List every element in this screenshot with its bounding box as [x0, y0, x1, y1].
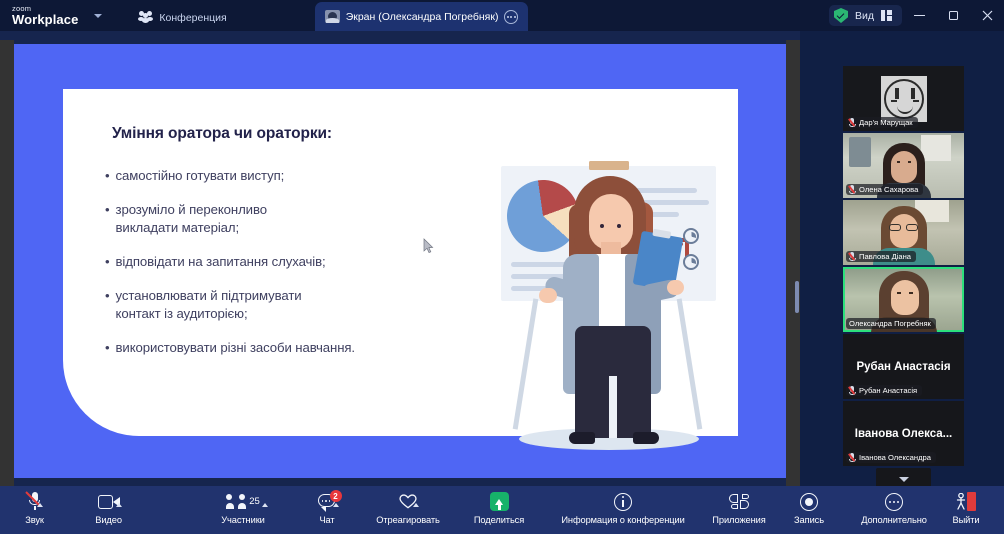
bullet-marker: •: [105, 339, 110, 357]
video-label: Видео: [95, 515, 122, 525]
participant-display-name: Рубан Анастасія: [856, 361, 950, 373]
participant-name: Павлова Діана: [859, 252, 911, 261]
tab-more-options-icon[interactable]: [504, 10, 518, 24]
more-options-button[interactable]: Дополнительно: [848, 486, 940, 534]
chevron-down-icon: [899, 477, 909, 482]
cartoon-face-avatar-icon: [881, 76, 927, 122]
video-tile[interactable]: Олена Сахарова: [843, 133, 964, 198]
share-scrollbar-handle[interactable]: [795, 281, 799, 313]
share-right-strip: [786, 40, 800, 486]
camera-icon: [98, 491, 120, 512]
info-icon: [614, 491, 632, 512]
apps-button[interactable]: Приложения: [706, 486, 772, 534]
mic-muted-icon: [849, 185, 856, 194]
screen-share-icon: [325, 10, 340, 23]
heart-reaction-icon: [399, 491, 417, 512]
bullet-marker: •: [105, 167, 110, 185]
record-button[interactable]: Запись: [782, 486, 836, 534]
minimize-button[interactable]: [902, 0, 936, 31]
easel-leg-left: [513, 298, 539, 429]
meeting-toolbar: Звук Видео 25 Участники 2: [0, 486, 1004, 534]
reactions-label: Отреагировать: [376, 515, 440, 525]
apps-label: Приложения: [712, 515, 765, 525]
share-left-strip: [0, 40, 14, 486]
audio-only-tile[interactable]: Іванова Олекса... Іванова Олександра: [843, 401, 964, 466]
reactions-caret-icon[interactable]: [413, 503, 419, 507]
slide-white-card: Уміння оратора чи ораторки: • самостійно…: [63, 89, 738, 436]
presenter-figure: [541, 176, 686, 466]
mouse-cursor: [423, 238, 434, 254]
bullet-text: установлювати й підтримувати контакт із …: [116, 287, 302, 323]
audio-only-tile[interactable]: Рубан Анастасія Рубан Анастасія: [843, 334, 964, 399]
tab-conference[interactable]: Конференция: [128, 4, 236, 31]
zoom-workplace-logo: zoom Workplace: [12, 5, 78, 26]
bullet-text: відповідати на запитання слухачів;: [116, 253, 326, 271]
mic-muted-icon: [849, 386, 856, 395]
mic-muted-icon: [849, 118, 856, 127]
video-tile-active-speaker[interactable]: Олександра Погребняк: [843, 267, 964, 332]
record-icon: [800, 491, 818, 512]
share-screen-icon: [490, 491, 509, 512]
participant-name-badge: Олександра Погребняк: [846, 318, 936, 329]
titlebar-right-controls: Вид: [829, 0, 1004, 31]
list-item: • відповідати на запитання слухачів;: [105, 253, 455, 271]
audio-options-caret-icon[interactable]: [37, 503, 43, 507]
bullet-text: самостійно готувати виступ;: [116, 167, 285, 185]
participant-name-badge: Павлова Діана: [846, 251, 916, 262]
mic-muted-icon: [849, 453, 856, 462]
bullet-marker: •: [105, 201, 110, 237]
bullet-marker: •: [105, 253, 110, 271]
bullet-marker: •: [105, 287, 110, 323]
zoom-meeting-window: zoom Workplace Конференция Экран (Олекса…: [0, 0, 1004, 534]
chat-icon: 2: [318, 491, 337, 512]
more-options-label: Дополнительно: [861, 515, 927, 525]
chat-button[interactable]: 2 Чат: [304, 486, 350, 534]
participants-icon: 25: [226, 491, 260, 512]
microphone-muted-icon: [28, 491, 41, 512]
green-shield-icon[interactable]: [834, 8, 848, 23]
video-options-caret-icon[interactable]: [116, 503, 122, 507]
layout-grid-icon[interactable]: [881, 10, 893, 21]
tab-conference-label: Конференция: [159, 12, 226, 24]
people-icon: [138, 11, 153, 24]
chat-caret-icon[interactable]: [333, 503, 339, 507]
logo-line-2: Workplace: [12, 13, 78, 26]
video-tile[interactable]: Дар'я Марущак: [843, 66, 964, 131]
participant-name-badge: Дар'я Марущак: [846, 117, 918, 128]
video-button[interactable]: Видео: [78, 486, 140, 534]
meeting-info-label: Информация о конференции: [561, 515, 684, 525]
chat-label: Чат: [319, 515, 334, 525]
participant-name-badge: Олена Сахарова: [846, 184, 923, 195]
close-button[interactable]: [970, 0, 1004, 31]
woman-presenting-charts-illustration: [501, 166, 716, 466]
participant-name: Рубан Анастасія: [859, 386, 917, 395]
bullet-text: зрозуміло й переконливо викладати матері…: [116, 201, 267, 237]
encryption-view-group[interactable]: Вид: [829, 5, 902, 26]
slide-title: Уміння оратора чи ораторки:: [112, 125, 442, 143]
shared-screen-area[interactable]: Уміння оратора чи ораторки: • самостійно…: [0, 31, 800, 486]
participant-name: Олександра Погребняк: [849, 319, 931, 328]
mic-muted-icon: [849, 252, 856, 261]
participant-name: Дар'я Марущак: [859, 118, 913, 127]
meeting-info-button[interactable]: Информация о конференции: [548, 486, 698, 534]
participant-display-name: Іванова Олекса...: [855, 428, 952, 440]
list-item: • самостійно готувати виступ;: [105, 167, 455, 185]
presentation-slide: Уміння оратора чи ораторки: • самостійно…: [14, 44, 786, 478]
share-label: Поделиться: [474, 515, 524, 525]
maximize-button[interactable]: [936, 0, 970, 31]
share-screen-button[interactable]: Поделиться: [464, 486, 534, 534]
leave-label: Выйти: [952, 515, 979, 525]
leave-meeting-button[interactable]: Выйти: [940, 486, 992, 534]
list-item: • зрозуміло й переконливо викладати мате…: [105, 201, 455, 237]
view-label: Вид: [855, 10, 874, 22]
list-item: • установлювати й підтримувати контакт і…: [105, 287, 455, 323]
board-clip-shape: [589, 161, 629, 170]
participant-name-badge: Іванова Олександра: [846, 452, 936, 463]
participant-name: Олена Сахарова: [859, 185, 918, 194]
tab-screen-share[interactable]: Экран (Олександра Погребняк): [315, 2, 529, 31]
video-tile[interactable]: Павлова Діана: [843, 200, 964, 265]
participants-label: Участники: [221, 515, 265, 525]
participants-count: 25: [249, 496, 260, 507]
bullet-text: використовувати різні засоби навчання.: [116, 339, 355, 357]
chevron-down-icon[interactable]: [94, 14, 102, 18]
record-label: Запись: [794, 515, 824, 525]
participant-name-badge: Рубан Анастасія: [846, 385, 922, 396]
chat-unread-badge: 2: [330, 490, 342, 502]
title-bar: zoom Workplace Конференция Экран (Олекса…: [0, 0, 1004, 31]
apps-icon: [729, 491, 749, 512]
slide-bullet-list: • самостійно готувати виступ; • зрозуміл…: [105, 167, 455, 373]
participants-caret-icon[interactable]: [262, 503, 268, 507]
reactions-button[interactable]: Отреагировать: [366, 486, 450, 534]
audio-label: Звук: [25, 515, 44, 525]
participant-name: Іванова Олександра: [859, 453, 931, 462]
meeting-stage: Уміння оратора чи ораторки: • самостійно…: [0, 31, 1004, 486]
participant-filmstrip: Дар'я Марущак Олена Сахарова: [843, 66, 964, 516]
leave-meeting-icon: [956, 491, 976, 512]
participants-button[interactable]: 25 Участники: [210, 486, 276, 534]
more-options-icon: [885, 491, 903, 512]
audio-button[interactable]: Звук: [8, 486, 62, 534]
list-item: • використовувати різні засоби навчання.: [105, 339, 455, 357]
tab-screen-share-label: Экран (Олександра Погребняк): [346, 11, 499, 23]
